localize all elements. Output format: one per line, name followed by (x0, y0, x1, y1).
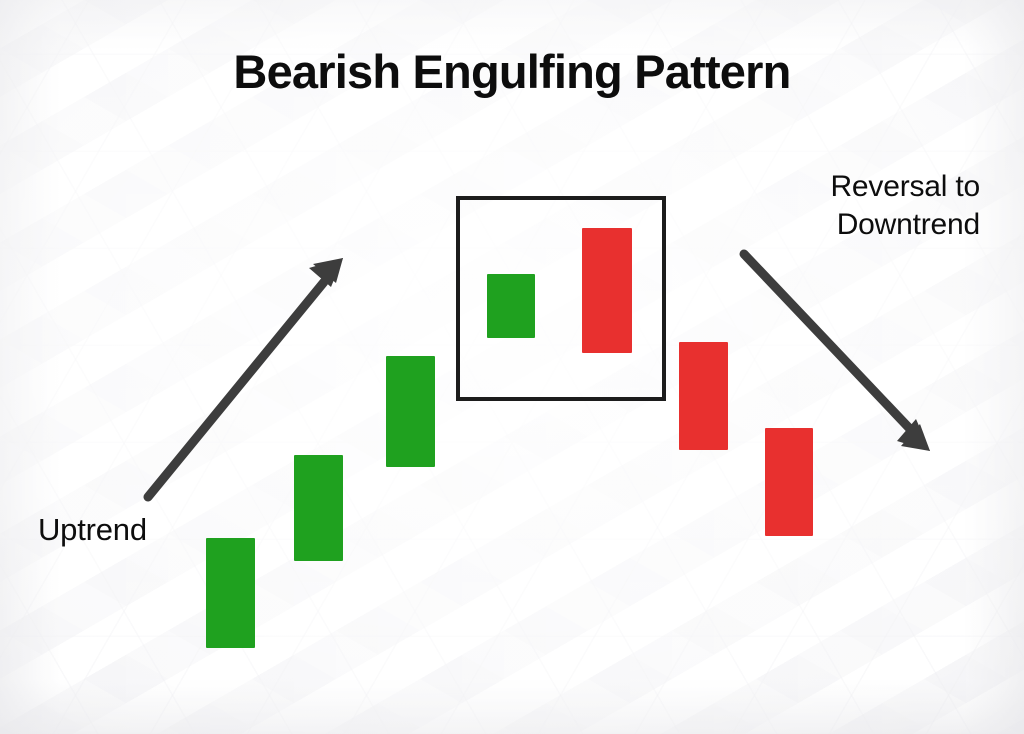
candle-7-bearish (765, 428, 813, 536)
candle-1-bullish (206, 538, 255, 648)
uptrend-label: Uptrend (38, 512, 147, 548)
candle-2-bullish (294, 455, 343, 561)
page-title: Bearish Engulfing Pattern (0, 44, 1024, 99)
downtrend-arrow (744, 254, 930, 451)
reversal-label-line-2: Downtrend (830, 206, 980, 244)
reversal-label-line-1: Reversal to (830, 168, 980, 206)
pattern-illustration: Bearish Engulfing Pattern Uptrend Revers… (0, 0, 1024, 734)
candle-6-bearish (679, 342, 728, 450)
pattern-highlight-box (456, 196, 666, 401)
reversal-label: Reversal to Downtrend (830, 168, 980, 244)
candle-3-bullish (386, 356, 435, 467)
